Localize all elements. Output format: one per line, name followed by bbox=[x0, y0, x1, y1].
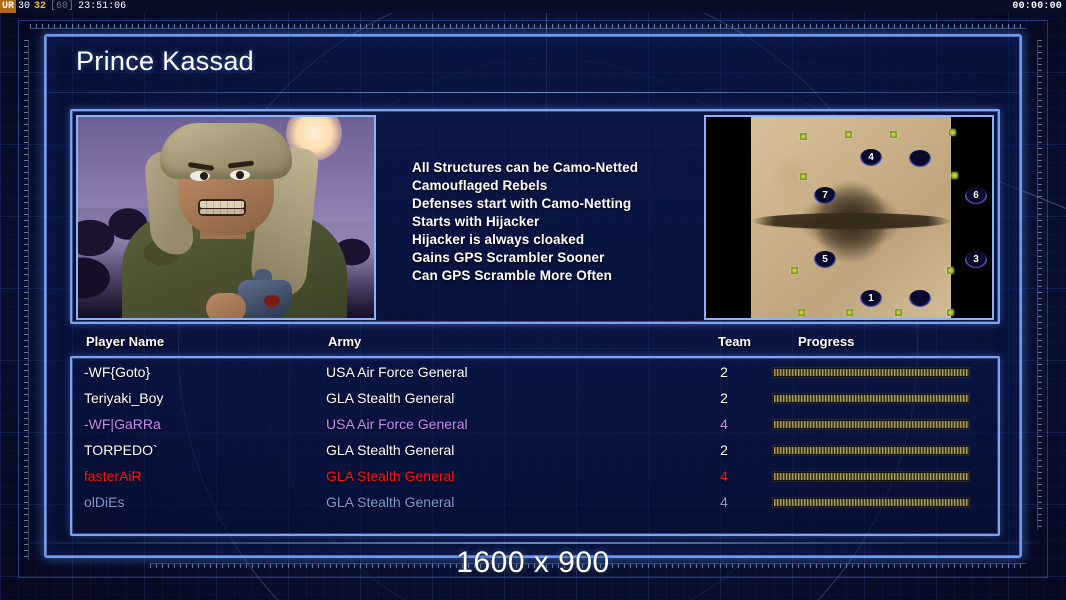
title-divider bbox=[46, 92, 1020, 93]
player-progress-fill bbox=[774, 369, 969, 376]
player-team: 4 bbox=[712, 490, 736, 514]
match-timer: 00:00:00 bbox=[1012, 0, 1062, 13]
table-row: -WF{Goto}USA Air Force General2 bbox=[72, 360, 998, 384]
portrait-teeth-lower bbox=[200, 209, 244, 214]
portrait-pupil-left bbox=[200, 172, 208, 180]
player-progress-fill bbox=[774, 447, 969, 454]
player-name: -WF|GaRRa bbox=[84, 412, 161, 436]
minimap-start-position: 1 bbox=[860, 290, 882, 307]
minimap-start-position: 3 bbox=[965, 251, 987, 268]
game-screen: UR3032[60]23:51:06 00:00:00 Prince Kassa… bbox=[0, 0, 1066, 600]
table-row: olDiEsGLA Stealth General4 bbox=[72, 490, 998, 514]
loading-panel: Prince Kassad bbox=[44, 34, 1022, 558]
ruler-top bbox=[30, 20, 1026, 29]
portrait-hand bbox=[206, 293, 246, 320]
player-name: Teriyaki_Boy bbox=[84, 386, 163, 410]
supply-dock-icon bbox=[947, 267, 954, 274]
supply-dock-icon bbox=[947, 309, 954, 316]
player-army: GLA Stealth General bbox=[326, 464, 454, 488]
status-fps: 30 bbox=[16, 0, 32, 13]
supply-dock-icon bbox=[949, 129, 956, 136]
minimap-start-position: 6 bbox=[965, 187, 987, 204]
minimap-start-position: 4 bbox=[860, 149, 882, 166]
table-row: -WF|GaRRaUSA Air Force General4 bbox=[72, 412, 998, 436]
player-table-header: Player Name Army Team Progress bbox=[70, 334, 1000, 354]
supply-dock-icon bbox=[845, 131, 852, 138]
minimap-start-position bbox=[909, 150, 931, 167]
minimap-start-position: 5 bbox=[814, 251, 836, 268]
table-row: Teriyaki_BoyGLA Stealth General2 bbox=[72, 386, 998, 410]
bonus-line: Hijacker is always cloaked bbox=[412, 231, 742, 249]
ruler-left bbox=[20, 40, 29, 560]
status-ping-max: [60] bbox=[48, 0, 76, 13]
player-army: GLA Stealth General bbox=[326, 386, 454, 410]
portrait-pupil-right bbox=[236, 171, 244, 179]
teapot-detail bbox=[264, 295, 280, 307]
player-progress-fill bbox=[774, 421, 969, 428]
minimap-river bbox=[751, 213, 951, 229]
player-progress-bar bbox=[772, 367, 970, 378]
player-progress-bar bbox=[772, 393, 970, 404]
player-army: USA Air Force General bbox=[326, 412, 468, 436]
bonus-line: Defenses start with Camo-Netting bbox=[412, 195, 742, 213]
portrait-teeth-upper bbox=[200, 201, 244, 208]
player-name: -WF{Goto} bbox=[84, 360, 150, 384]
minimap-start-position: 7 bbox=[814, 187, 836, 204]
supply-dock-icon bbox=[800, 133, 807, 140]
minimap-terrain: 476531 bbox=[751, 117, 951, 320]
portrait-mouth bbox=[198, 199, 246, 216]
player-progress-bar bbox=[772, 445, 970, 456]
supply-dock-icon bbox=[890, 131, 897, 138]
keffiyeh-headwrap bbox=[160, 123, 292, 179]
player-progress-fill bbox=[774, 395, 969, 402]
bonus-line: Gains GPS Scrambler Sooner bbox=[412, 249, 742, 267]
supply-dock-icon bbox=[791, 267, 798, 274]
header-army: Army bbox=[328, 334, 361, 349]
footer-divider bbox=[26, 542, 1040, 544]
player-progress-fill bbox=[774, 473, 969, 480]
general-bonus-list: All Structures can be Camo-Netted Camouf… bbox=[412, 159, 742, 285]
top-status-bar: UR3032[60]23:51:06 00:00:00 bbox=[0, 0, 1066, 13]
player-team: 2 bbox=[712, 386, 736, 410]
header-progress: Progress bbox=[798, 334, 854, 349]
player-team: 2 bbox=[712, 438, 736, 462]
status-ping: 32 bbox=[32, 0, 48, 13]
player-progress-bar bbox=[772, 471, 970, 482]
general-portrait bbox=[76, 115, 376, 320]
player-progress-bar bbox=[772, 419, 970, 430]
header-team: Team bbox=[718, 334, 751, 349]
supply-dock-icon bbox=[798, 309, 805, 316]
supply-dock-icon bbox=[800, 173, 807, 180]
supply-dock-icon bbox=[895, 309, 902, 316]
player-army: GLA Stealth General bbox=[326, 438, 454, 462]
player-name: fasterAiR bbox=[84, 464, 142, 488]
bonus-line: Camouflaged Rebels bbox=[412, 177, 742, 195]
minimap: 476531 bbox=[704, 115, 994, 320]
player-progress-bar bbox=[772, 497, 970, 508]
resolution-label: 1600 x 900 bbox=[456, 546, 609, 579]
player-name: olDiEs bbox=[84, 490, 124, 514]
player-progress-fill bbox=[774, 499, 969, 506]
bonus-line: Can GPS Scramble More Often bbox=[412, 267, 742, 285]
player-name: TORPEDO` bbox=[84, 438, 158, 462]
ruler-right bbox=[1037, 40, 1046, 530]
minimap-start-position bbox=[909, 290, 931, 307]
resolution-footer: 1600 x 900 bbox=[0, 546, 1066, 586]
general-info-box: All Structures can be Camo-Netted Camouf… bbox=[70, 109, 1000, 324]
player-team: 2 bbox=[712, 360, 736, 384]
player-army: GLA Stealth General bbox=[326, 490, 454, 514]
table-row: TORPEDO`GLA Stealth General2 bbox=[72, 438, 998, 462]
page-title: Prince Kassad bbox=[76, 46, 254, 77]
player-table: -WF{Goto}USA Air Force General2Teriyaki_… bbox=[70, 356, 1000, 536]
bonus-line: Starts with Hijacker bbox=[412, 213, 742, 231]
supply-dock-icon bbox=[846, 309, 853, 316]
supply-dock-icon bbox=[951, 172, 958, 179]
bonus-line: All Structures can be Camo-Netted bbox=[412, 159, 742, 177]
table-row: fasterAiRGLA Stealth General4 bbox=[72, 464, 998, 488]
player-team: 4 bbox=[712, 412, 736, 436]
status-clock: 23:51:06 bbox=[76, 0, 128, 13]
player-team: 4 bbox=[712, 464, 736, 488]
player-army: USA Air Force General bbox=[326, 360, 468, 384]
header-player-name: Player Name bbox=[86, 334, 164, 349]
status-tag: UR bbox=[0, 0, 16, 13]
